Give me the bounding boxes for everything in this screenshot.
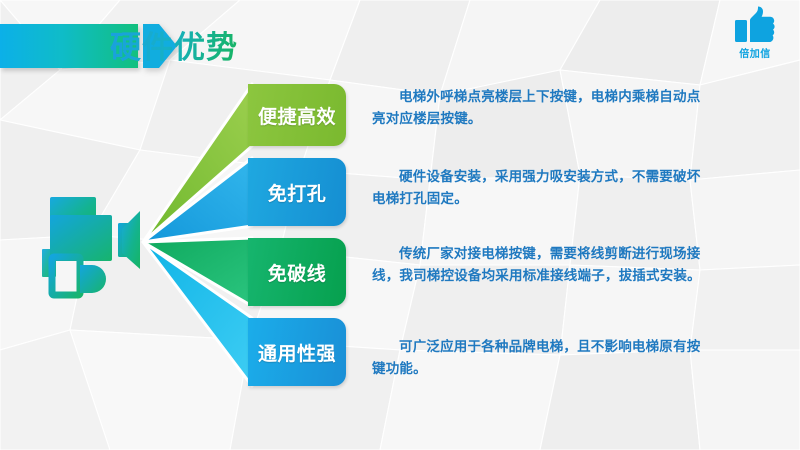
- feature-pill-label: 免破线: [268, 259, 327, 286]
- feature-pill-label: 通用性强: [258, 339, 336, 366]
- brand-logo: 倍加信: [724, 6, 786, 60]
- feature-pill-4[interactable]: 通用性强: [248, 318, 346, 386]
- page-title: 硬件优势: [110, 22, 238, 67]
- feature-description-1: 电梯外呼梯点亮楼层上下按键，电梯内乘梯自动点亮对应楼层按键。: [372, 86, 708, 130]
- feature-pill-label: 免打孔: [268, 179, 327, 206]
- feature-pill-3[interactable]: 免破线: [248, 238, 346, 306]
- brand-name: 倍加信: [724, 45, 786, 60]
- feature-description-3: 传统厂家对接电梯按键，需要将线剪断进行现场接线，我司梯控设备均采用标准接线端子，…: [372, 243, 708, 287]
- slide-canvas: 硬件优势 倍加信 便捷高效 免打孔 免破线 通用性强 电梯外呼梯点亮楼层上下按键…: [0, 0, 800, 450]
- feature-description-4: 可广泛应用于各种品牌电梯，且不影响电梯原有按键功能。: [372, 336, 708, 380]
- feature-pill-label: 便捷高效: [258, 102, 336, 129]
- thumbs-up-icon: [733, 6, 777, 44]
- feature-pill-2[interactable]: 免打孔: [248, 158, 346, 226]
- projector-device-icon: [36, 193, 166, 313]
- feature-description-2: 硬件设备安装，采用强力吸安装方式，不需要破坏电梯打孔固定。: [372, 166, 708, 210]
- feature-pill-1[interactable]: 便捷高效: [248, 84, 346, 146]
